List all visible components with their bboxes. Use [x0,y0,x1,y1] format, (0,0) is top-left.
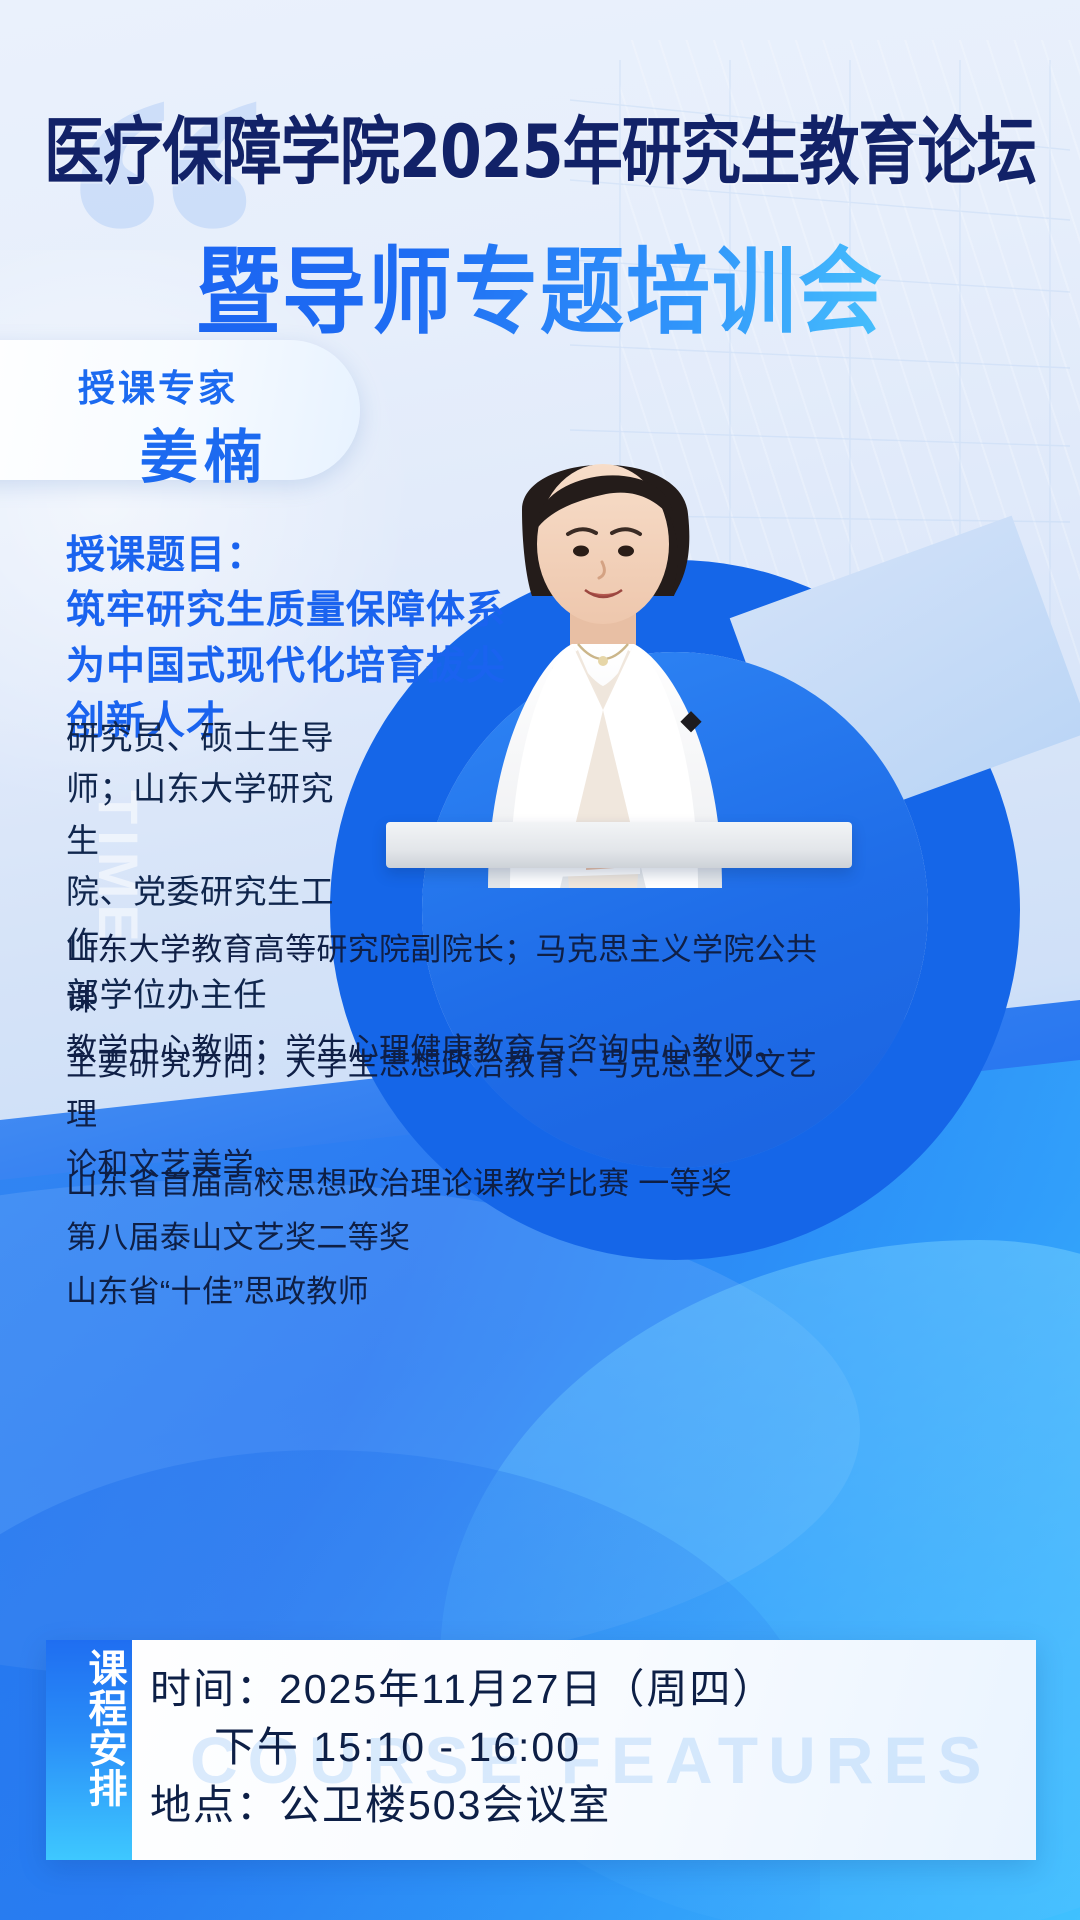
bio-narrow-line-2: 师；山东大学研究生 [66,763,366,866]
schedule-tab-label: 课程安排 [46,1648,132,1808]
lecture-line-2: 为中国式现代化培育拔尖 [66,639,536,694]
desk-surface [386,822,852,868]
speaker-name: 姜楠 [140,410,268,494]
schedule-details: 时间：2025年11月27日（周四） 下午 15:10 - 16:00 地点：公… [150,1660,1010,1835]
schedule-place-line: 地点：公卫楼503会议室 [150,1776,1010,1834]
bio-research-line-1: 主要研究方向：大学生思想政治教育、马克思主义文艺理 [66,1040,836,1140]
award-item-3: 山东省“十佳”思政教师 [66,1267,846,1317]
schedule-tab: 课程安排 [46,1640,132,1860]
award-item-2: 第八届泰山文艺奖二等奖 [66,1213,846,1263]
poster-title-line1: 医疗保障学院2025年研究生教育论坛 [16,92,1064,198]
poster-root: “ TIME [0,0,1080,1920]
speaker-label: 授课专家 [78,358,238,412]
poster-title-block: 医疗保障学院2025年研究生教育论坛 暨导师专题培训会 [0,100,1080,345]
lecture-line-1: 筑牢研究生质量保障体系 [66,583,536,638]
schedule-time-detail: 下午 15:10 - 16:00 [150,1718,1010,1776]
schedule-time-line: 时间：2025年11月27日（周四） [150,1660,1010,1718]
poster-title-line2: 暨导师专题培训会 [0,217,1080,353]
lecture-heading: 授课题目： [66,528,536,583]
bio-affiliations-line-1: 山东大学教育高等研究院副院长；马克思主义学院公共课 [66,925,826,1025]
award-item-1: 山东省首届高校思想政治理论课教学比赛 一等奖 [66,1159,846,1209]
bio-awards-block: 山东省首届高校思想政治理论课教学比赛 一等奖 第八届泰山文艺奖二等奖 山东省“十… [66,1155,846,1318]
bio-narrow-line-1: 研究员、硕士生导 [66,712,366,763]
